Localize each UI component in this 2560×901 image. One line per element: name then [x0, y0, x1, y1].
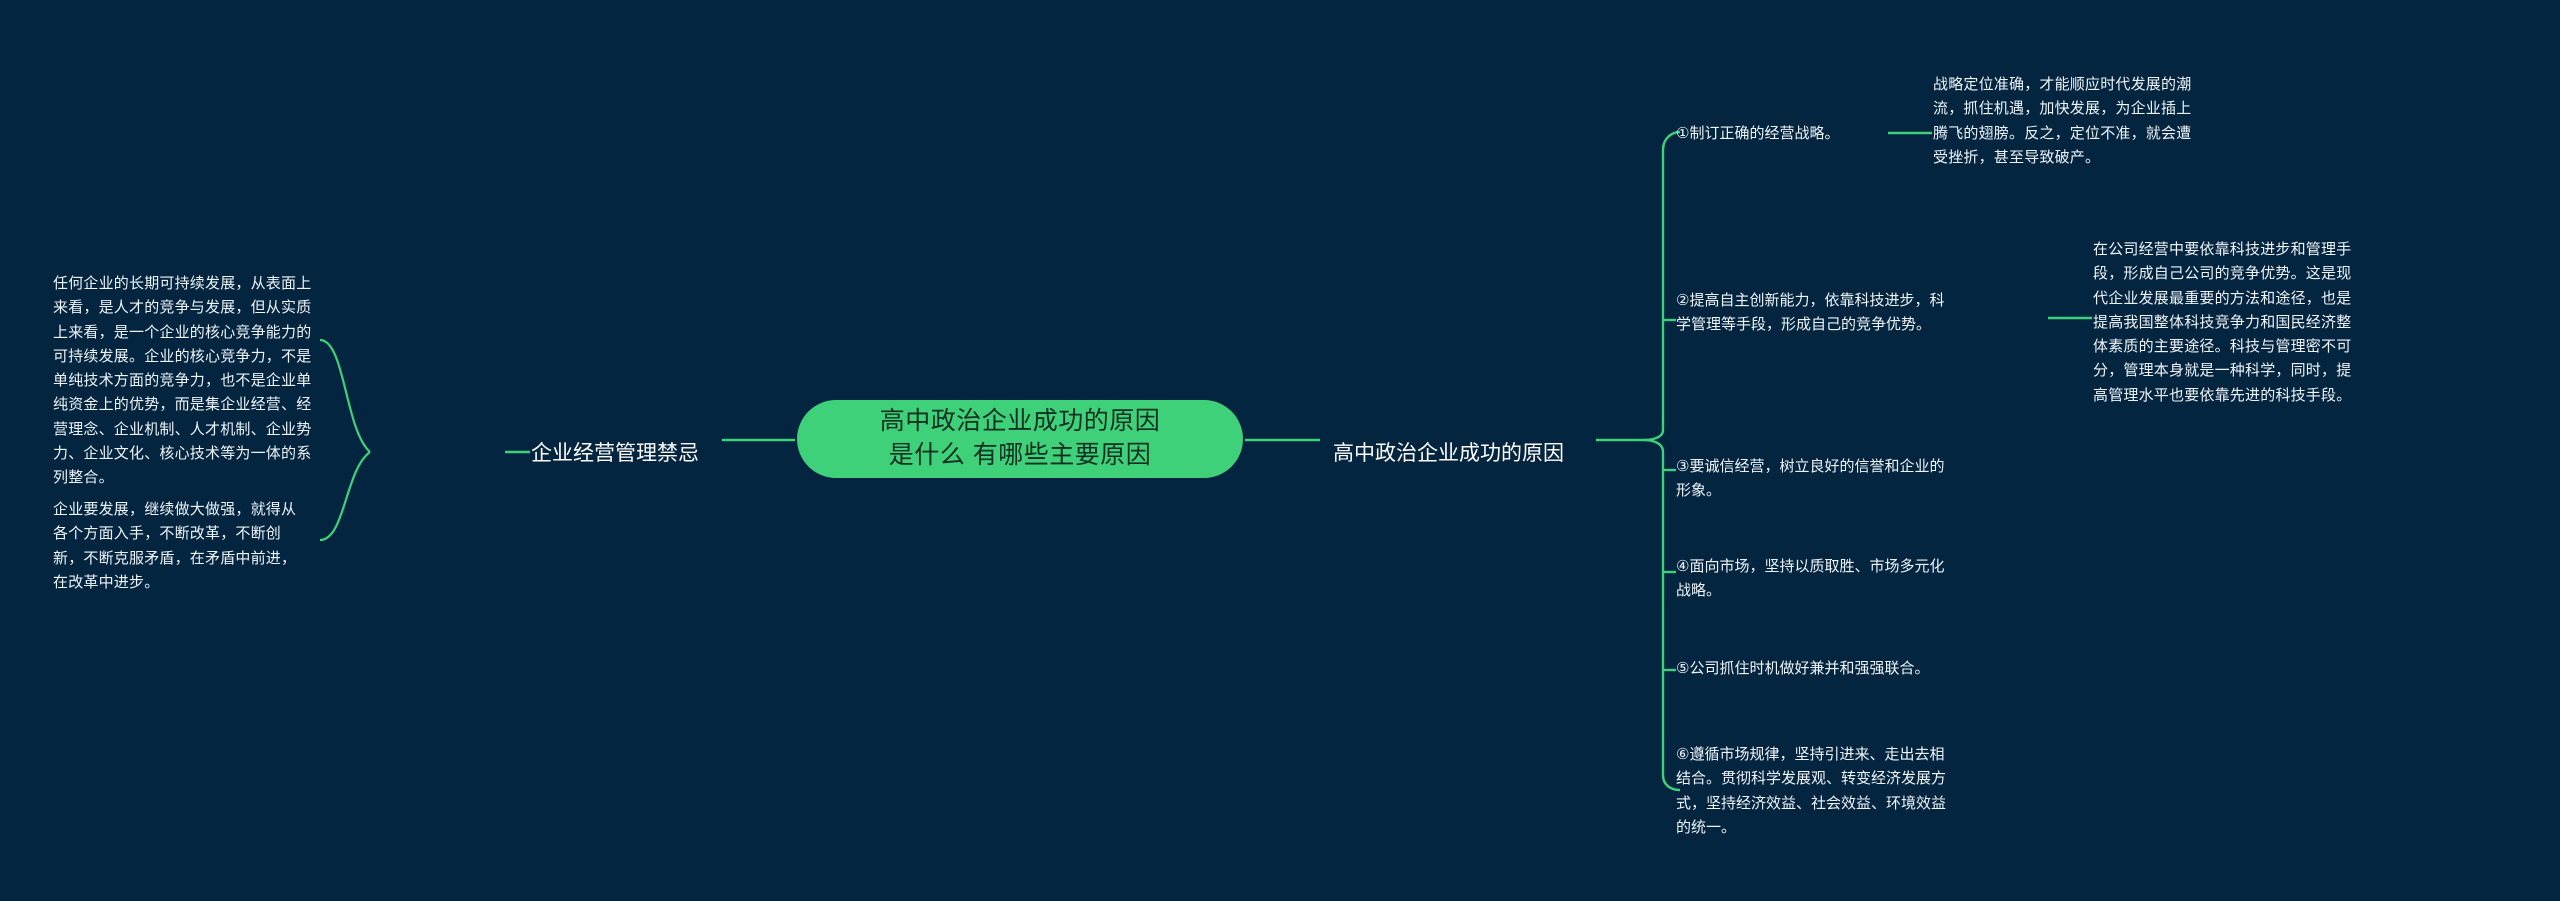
right-item-2-detail: 在公司经营中要依靠科技进步和管理手段，形成自己公司的竞争优势。这是现代企业发展最…	[2093, 238, 2361, 408]
right-item-5[interactable]: ⑤公司抓住时机做好兼并和强强联合。	[1676, 657, 1961, 681]
right-item-1-detail: 战略定位准确，才能顺应时代发展的潮流，抓住机遇，加快发展，为企业插上腾飞的翅膀。…	[1933, 73, 2201, 170]
root-node[interactable]: 高中政治企业成功的原因 是什么 有哪些主要原因	[797, 400, 1243, 478]
left-branch-label[interactable]: 企业经营管理禁忌	[531, 440, 699, 467]
link-spine-lower	[1645, 440, 1680, 790]
right-branch-label[interactable]: 高中政治企业成功的原因	[1333, 440, 1564, 467]
right-item-2[interactable]: ②提高自主创新能力，依靠科技进步，科学管理等手段，形成自己的竞争优势。	[1676, 289, 1946, 338]
right-item-4[interactable]: ④面向市场，坚持以质取胜、市场多元化战略。	[1676, 555, 1956, 604]
right-item-3[interactable]: ③要诚信经营，树立良好的信誉和企业的形象。	[1676, 455, 1951, 504]
link-leftpara2-to-leftlabel	[320, 452, 370, 540]
left-paragraph-1: 任何企业的长期可持续发展，从表面上来看，是人才的竞争与发展，但从实质上来看，是一…	[53, 272, 315, 491]
root-node-label: 高中政治企业成功的原因 是什么 有哪些主要原因	[880, 405, 1161, 473]
right-item-6[interactable]: ⑥遵循市场规律，坚持引进来、走出去相结合。贯彻科学发展观、转变经济发展方式，坚持…	[1676, 743, 1948, 840]
link-leftpara1-to-leftlabel	[320, 340, 370, 452]
link-spine	[1645, 132, 1680, 440]
left-paragraph-2: 企业要发展，继续做大做强，就得从各个方面入手，不断改革，不断创新，不断克服矛盾，…	[53, 498, 305, 595]
right-item-1[interactable]: ①制订正确的经营战略。	[1676, 122, 1941, 146]
mindmap-canvas: 高中政治企业成功的原因 是什么 有哪些主要原因 任何企业的长期可持续发展，从表面…	[0, 0, 2560, 901]
